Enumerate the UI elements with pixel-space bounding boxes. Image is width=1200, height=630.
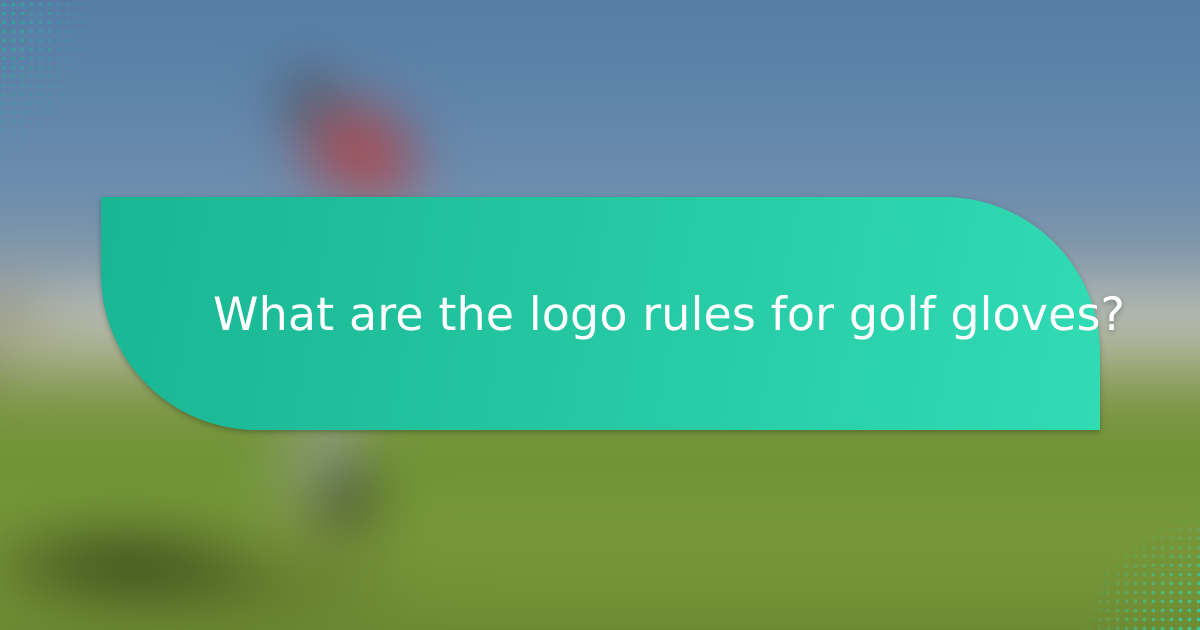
page-title: What are the logo rules for golf gloves? — [213, 197, 1125, 430]
headline-banner: What are the logo rules for golf gloves? — [101, 197, 1100, 430]
share-card: What are the logo rules for golf gloves? — [0, 0, 1200, 630]
